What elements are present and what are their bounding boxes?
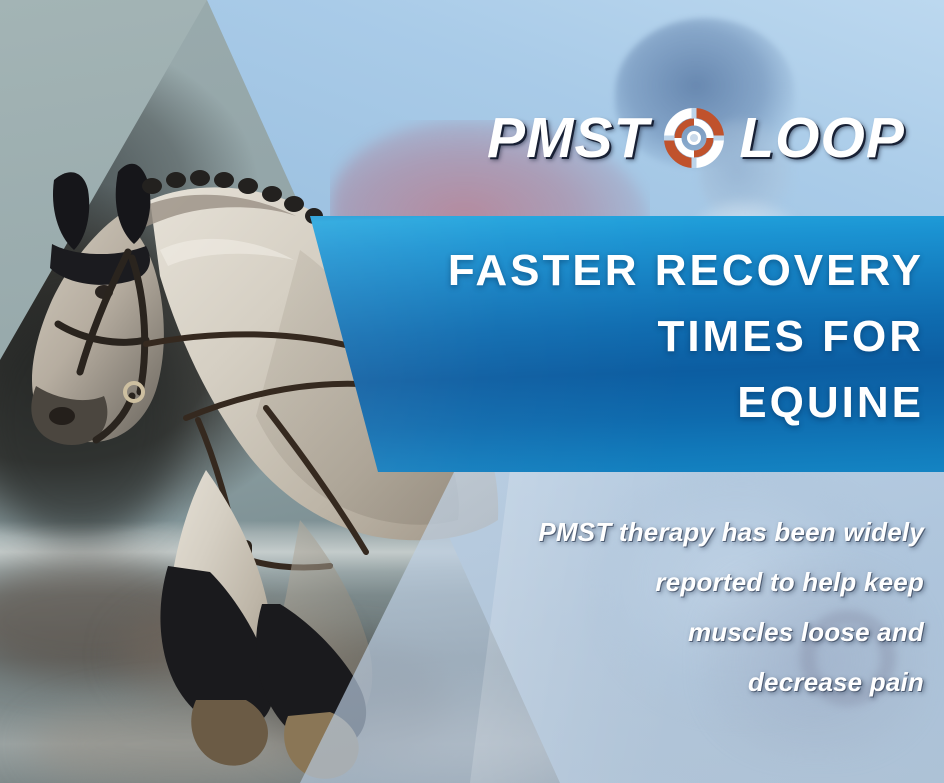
headline-line-3: EQUINE <box>430 370 924 436</box>
loop-target-icon <box>663 107 725 169</box>
logo-word-loop: LOOP <box>739 110 905 167</box>
headline-line-1: FASTER RECOVERY <box>430 238 924 304</box>
brand-logo: PMST <box>487 100 905 176</box>
body-line-1: PMST therapy has been widely <box>420 508 924 558</box>
background-blur-shape <box>30 700 330 783</box>
logo-word-pmst: PMST <box>487 110 649 167</box>
headline-line-2: TIMES FOR <box>430 304 924 370</box>
body-line-2: reported to help keep <box>420 558 924 608</box>
promo-banner: PMST <box>0 0 944 783</box>
body-line-3: muscles loose and <box>420 608 924 658</box>
headline-text: FASTER RECOVERY TIMES FOR EQUINE <box>430 238 924 436</box>
body-text: PMST therapy has been widely reported to… <box>420 508 924 708</box>
body-line-4: decrease pain <box>420 658 924 708</box>
